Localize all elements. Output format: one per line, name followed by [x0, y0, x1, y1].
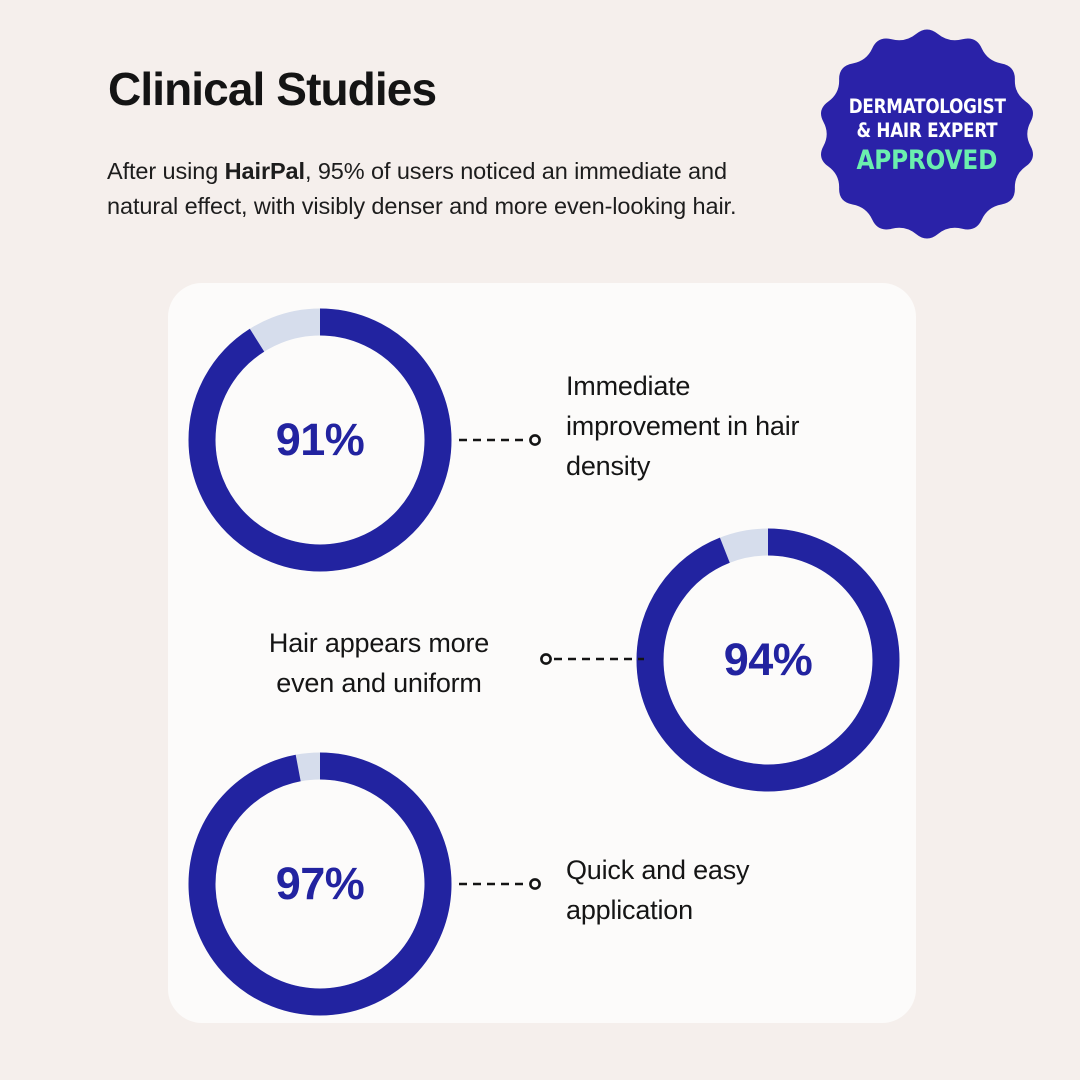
page-title: Clinical Studies	[108, 64, 436, 115]
donut-chart-2: 97%	[188, 752, 452, 1016]
badge-text-block: DERMATOLOGIST & HAIR EXPERT APPROVED	[812, 25, 1042, 243]
stat-label-0-line2: improvement in hair	[566, 407, 876, 447]
badge-line-1: DERMATOLOGIST	[849, 96, 1006, 118]
stat-label-1-line1: Hair appears more	[214, 624, 544, 664]
badge-line-2: & HAIR EXPERT	[857, 120, 998, 142]
stat-label-1-line2: even and uniform	[214, 664, 544, 704]
callout-connector-2	[459, 875, 543, 893]
stat-label-2-line2: application	[566, 891, 856, 931]
donut-chart-0: 91%	[188, 308, 452, 572]
donut-chart-1: 94%	[636, 528, 900, 792]
stat-label-0-line3: density	[566, 447, 876, 487]
infographic-canvas: Clinical Studies After using HairPal, 95…	[0, 0, 1080, 1080]
donut-value-2: 97%	[188, 752, 452, 1016]
intro-paragraph: After using HairPal, 95% of users notice…	[107, 154, 752, 223]
stat-label-0: Immediate improvement in hair density	[566, 367, 876, 487]
brand-name: HairPal	[225, 158, 305, 184]
intro-prefix: After using	[107, 158, 225, 184]
stat-label-1: Hair appears more even and uniform	[214, 624, 544, 704]
callout-connector-1	[540, 650, 644, 668]
callout-connector-0	[459, 431, 543, 449]
stat-label-2-line1: Quick and easy	[566, 851, 856, 891]
badge-line-approved: APPROVED	[857, 146, 998, 176]
donut-value-1: 94%	[636, 528, 900, 792]
dermatologist-approved-badge: DERMATOLOGIST & HAIR EXPERT APPROVED	[812, 25, 1042, 243]
donut-value-0: 91%	[188, 308, 452, 572]
stat-label-0-line1: Immediate	[566, 367, 876, 407]
stat-label-2: Quick and easy application	[566, 851, 856, 931]
